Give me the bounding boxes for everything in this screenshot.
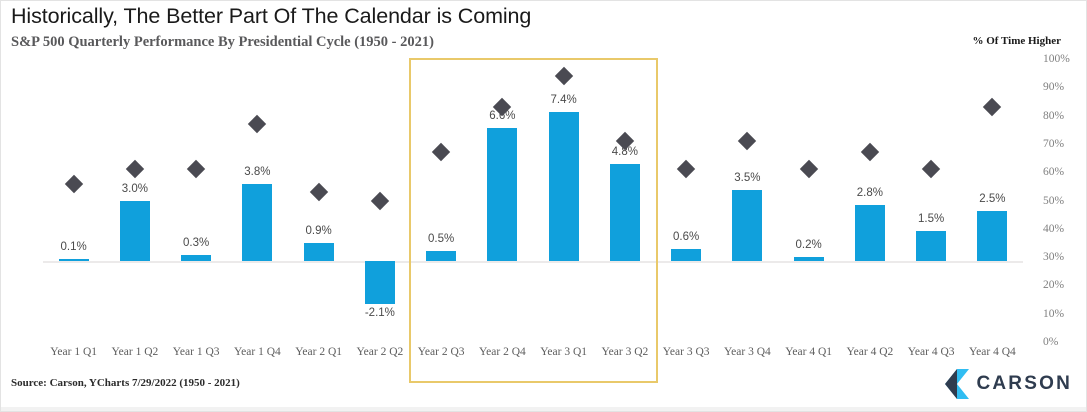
percent-higher-marker[interactable] <box>677 160 695 178</box>
page-subtitle: S&P 500 Quarterly Performance By Preside… <box>11 34 434 51</box>
chart-column[interactable]: 4.8%Year 3 Q2 <box>594 59 655 342</box>
bar[interactable] <box>242 184 272 261</box>
percent-higher-marker[interactable] <box>861 143 879 161</box>
y-axis-tick-right: 0% <box>1043 336 1058 348</box>
percent-higher-marker[interactable] <box>922 160 940 178</box>
x-axis-label: Year 1 Q4 <box>234 346 281 358</box>
percent-higher-marker[interactable] <box>738 132 756 150</box>
chart-page: Historically, The Better Part Of The Cal… <box>0 0 1087 412</box>
chart-column[interactable]: 0.3%Year 1 Q3 <box>166 59 227 342</box>
bar[interactable] <box>120 201 150 262</box>
percent-higher-marker[interactable] <box>309 183 327 201</box>
carson-logo: CARSON <box>943 369 1072 399</box>
bar-value-label: 0.3% <box>183 237 209 249</box>
chart-column[interactable]: 3.5%Year 3 Q4 <box>717 59 778 342</box>
x-axis-label: Year 2 Q1 <box>295 346 342 358</box>
chart-column[interactable]: 3.0%Year 1 Q2 <box>104 59 165 342</box>
bar[interactable] <box>610 164 640 261</box>
chart-column[interactable]: -2.1%Year 2 Q2 <box>349 59 410 342</box>
bar-value-label: 2.8% <box>857 187 883 199</box>
chart-column[interactable]: 0.1%Year 1 Q1 <box>43 59 104 342</box>
x-axis-label: Year 3 Q1 <box>540 346 587 358</box>
bar[interactable] <box>732 190 762 261</box>
bar[interactable] <box>181 255 211 261</box>
right-axis-title: % Of Time Higher <box>972 35 1061 47</box>
x-axis-label: Year 2 Q3 <box>418 346 465 358</box>
percent-higher-marker[interactable] <box>983 98 1001 116</box>
bar-value-label: 3.0% <box>122 183 148 195</box>
chart-column[interactable]: 6.6%Year 2 Q4 <box>472 59 533 342</box>
y-axis-tick-right: 70% <box>1043 138 1064 150</box>
footer-rule <box>1 407 1086 411</box>
bar[interactable] <box>426 251 456 261</box>
chart-column[interactable]: 3.8%Year 1 Q4 <box>227 59 288 342</box>
bar[interactable] <box>59 259 89 261</box>
y-axis-tick-right: 40% <box>1043 223 1064 235</box>
percent-higher-marker[interactable] <box>432 143 450 161</box>
bar-value-label: 3.5% <box>734 172 760 184</box>
y-axis-tick-right: 20% <box>1043 279 1064 291</box>
chart-column[interactable]: 0.9%Year 2 Q1 <box>288 59 349 342</box>
percent-higher-marker[interactable] <box>799 160 817 178</box>
carson-logo-text: CARSON <box>976 373 1072 395</box>
page-title: Historically, The Better Part Of The Cal… <box>11 4 531 29</box>
chart-column[interactable]: 7.4%Year 3 Q1 <box>533 59 594 342</box>
y-axis-tick-right: 80% <box>1043 110 1064 122</box>
y-axis-tick-right: 90% <box>1043 81 1064 93</box>
plot-area: 10%8%6%4%2%0%-2%-4%100%90%80%70%60%50%40… <box>43 59 1023 342</box>
bar-value-label: 1.5% <box>918 213 944 225</box>
percent-higher-marker[interactable] <box>248 115 266 133</box>
percent-higher-marker[interactable] <box>554 67 572 85</box>
bar-value-label: 0.6% <box>673 231 699 243</box>
x-axis-label: Year 4 Q4 <box>969 346 1016 358</box>
bar[interactable] <box>916 231 946 261</box>
x-axis-label: Year 1 Q3 <box>173 346 220 358</box>
bar-value-label: 0.1% <box>61 241 87 253</box>
y-axis-tick-right: 10% <box>1043 308 1064 320</box>
bar[interactable] <box>855 205 885 262</box>
y-axis-tick-right: 100% <box>1043 53 1070 65</box>
percent-higher-marker[interactable] <box>187 160 205 178</box>
carson-logo-mark <box>943 369 969 399</box>
bar-value-label: -2.1% <box>365 307 395 319</box>
x-axis-label: Year 1 Q2 <box>112 346 159 358</box>
bar-value-label: 0.2% <box>796 239 822 251</box>
bar-value-label: 2.5% <box>979 193 1005 205</box>
source-note: Source: Carson, YCharts 7/29/2022 (1950 … <box>11 377 240 389</box>
bar[interactable] <box>977 211 1007 262</box>
x-axis-label: Year 2 Q2 <box>357 346 404 358</box>
bar-value-label: 7.4% <box>551 94 577 106</box>
chart-column[interactable]: 0.6%Year 3 Q3 <box>656 59 717 342</box>
chart-column[interactable]: 0.2%Year 4 Q1 <box>778 59 839 342</box>
x-axis-label: Year 3 Q4 <box>724 346 771 358</box>
y-axis-tick-right: 30% <box>1043 251 1064 263</box>
bar-value-label: 3.8% <box>244 166 270 178</box>
x-axis-label: Year 4 Q2 <box>847 346 894 358</box>
bar-value-label: 0.5% <box>428 233 454 245</box>
bar[interactable] <box>365 261 395 303</box>
bar[interactable] <box>304 243 334 261</box>
x-axis-label: Year 4 Q1 <box>785 346 832 358</box>
y-axis-tick-right: 60% <box>1043 166 1064 178</box>
x-axis-label: Year 1 Q1 <box>50 346 97 358</box>
bar[interactable] <box>487 128 517 261</box>
bar[interactable] <box>794 257 824 261</box>
chart-column[interactable]: 1.5%Year 4 Q3 <box>901 59 962 342</box>
chart-column[interactable]: 2.8%Year 4 Q2 <box>839 59 900 342</box>
chart-column[interactable]: 2.5%Year 4 Q4 <box>962 59 1023 342</box>
x-axis-label: Year 2 Q4 <box>479 346 526 358</box>
percent-higher-marker[interactable] <box>371 191 389 209</box>
percent-higher-marker[interactable] <box>126 160 144 178</box>
y-axis-tick-right: 50% <box>1043 195 1064 207</box>
bar[interactable] <box>671 249 701 261</box>
x-axis-label: Year 3 Q2 <box>602 346 649 358</box>
bar[interactable] <box>549 112 579 262</box>
bar-value-label: 0.9% <box>306 225 332 237</box>
chart-column[interactable]: 0.5%Year 2 Q3 <box>411 59 472 342</box>
x-axis-label: Year 4 Q3 <box>908 346 955 358</box>
percent-higher-marker[interactable] <box>64 174 82 192</box>
x-axis-label: Year 3 Q3 <box>663 346 710 358</box>
